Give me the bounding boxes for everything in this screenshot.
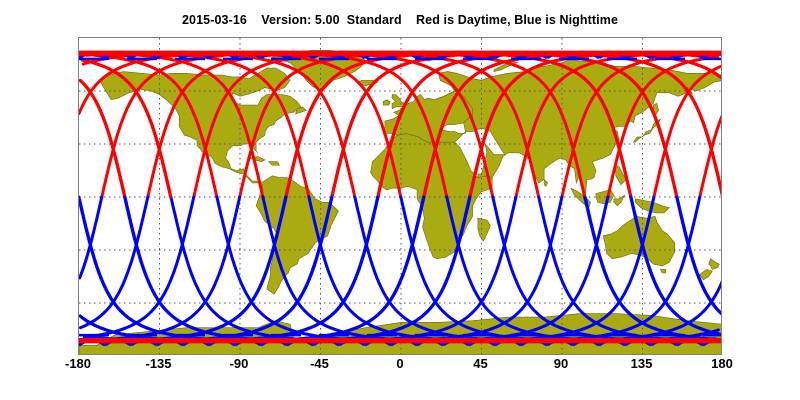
x-tick-label: 45 [451, 356, 511, 371]
ground-track-figure: 2015-03-16 Version: 5.00 Standard Red is… [0, 0, 800, 400]
x-tick-label: 135 [612, 356, 672, 371]
x-tick-label: -135 [129, 356, 189, 371]
x-tick-label: 180 [692, 356, 752, 371]
map-and-tracks-svg [79, 38, 722, 355]
x-tick-label: -45 [290, 356, 350, 371]
plot-area [78, 37, 722, 355]
x-tick-label: -180 [48, 356, 108, 371]
x-tick-label: 90 [531, 356, 591, 371]
x-tick-label: -90 [209, 356, 269, 371]
x-tick-label: 0 [370, 356, 430, 371]
figure-title: 2015-03-16 Version: 5.00 Standard Red is… [0, 13, 800, 27]
